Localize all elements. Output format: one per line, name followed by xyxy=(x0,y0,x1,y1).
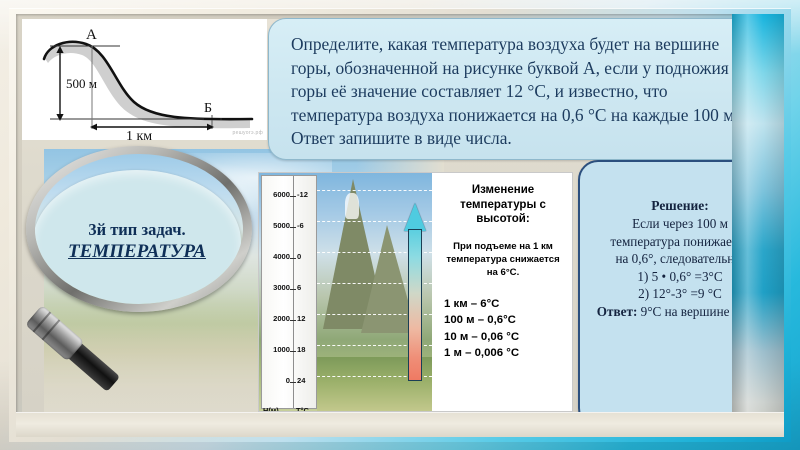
scale-height-value: 3000 xyxy=(263,283,290,292)
scale-tick-mark xyxy=(290,258,296,259)
arrow-shaft xyxy=(408,229,422,381)
temperature-gradient-arrow xyxy=(404,203,426,381)
scale-tick-mark xyxy=(290,320,296,321)
magnifier-handle xyxy=(11,293,119,391)
solution-answer-label: Ответ: xyxy=(597,304,638,319)
scale-row: 100018 xyxy=(262,345,318,357)
info-title: Изменение температуры с высотой: xyxy=(440,183,566,227)
scale-height-value: 6000 xyxy=(263,190,290,199)
diagram-base-label: Б xyxy=(204,101,212,116)
mountain-photo xyxy=(317,173,432,411)
scale-height-value: 2000 xyxy=(263,314,290,323)
scale-row: 30006 xyxy=(262,283,318,295)
scale-temp-value: 18 xyxy=(297,345,317,354)
frame-bottom-ledge xyxy=(16,412,784,437)
scale-temp-value: -12 xyxy=(297,190,317,199)
frame-right-band xyxy=(732,14,784,436)
scale-tick-mark xyxy=(290,196,296,197)
question-callout: Определите, какая температура воздуха бу… xyxy=(268,18,782,160)
conversion-item-1: 100 м – 0,6°С xyxy=(440,312,566,329)
altitude-temperature-figure: Н(м) Т°С 6000-125000-6400003000620001210… xyxy=(259,173,432,411)
scale-row: 5000-6 xyxy=(262,221,318,233)
scale-height-value: 5000 xyxy=(263,221,290,230)
magnifier-ring: 3й тип задач. ТЕМПЕРАТУРА xyxy=(26,146,252,312)
diagram-peak-label: А xyxy=(86,27,97,43)
scale-tick-mark xyxy=(290,351,296,352)
slide-root: А Б 500 м 1 км решуогэ.рф Определите, ка… xyxy=(0,0,800,450)
arrow-head-icon xyxy=(404,203,426,231)
scale-temp-value: 24 xyxy=(297,376,317,385)
altitude-temperature-scale: Н(м) Т°С 6000-125000-6400003000620001210… xyxy=(261,175,317,409)
conversion-item-3: 1 м – 0,006 °С xyxy=(440,345,566,362)
scale-temp-value: 6 xyxy=(297,283,317,292)
scale-tick-mark xyxy=(290,227,296,228)
altitude-dashline-6000 xyxy=(317,190,432,191)
scale-row: 024 xyxy=(262,376,318,388)
conversion-list: 1 км – 6°С100 м – 0,6°С10 м – 0,06 °С1 м… xyxy=(440,296,566,362)
diagram-height-label: 500 м xyxy=(66,76,97,91)
magnifier-lens: 3й тип задач. ТЕМПЕРАТУРА xyxy=(35,154,243,304)
scale-tick-mark xyxy=(290,382,296,383)
scale-tick-mark xyxy=(290,289,296,290)
info-text-column: Изменение температуры с высотой: При под… xyxy=(432,173,572,411)
title-oval-callout: 3й тип задач. ТЕМПЕРАТУРА xyxy=(35,170,241,304)
temperature-info-panel: Н(м) Т°С 6000-125000-6400003000620001210… xyxy=(258,172,573,412)
conversion-item-2: 10 м – 0,06 °С xyxy=(440,329,566,346)
scale-height-value: 4000 xyxy=(263,252,290,261)
scale-temp-value: 0 xyxy=(297,252,317,261)
scale-row: 6000-12 xyxy=(262,190,318,202)
scale-row: 40000 xyxy=(262,252,318,264)
question-text: Определите, какая температура воздуха бу… xyxy=(291,33,759,151)
mountain-profile-svg: А Б 500 м 1 км xyxy=(22,19,267,140)
scale-temp-value: -6 xyxy=(297,221,317,230)
conversion-item-0: 1 км – 6°С xyxy=(440,296,566,313)
title-oval-line1: 3й тип задач. xyxy=(88,220,185,241)
title-oval-line2: ТЕМПЕРАТУРА xyxy=(68,240,206,264)
info-subtitle: При подъеме на 1 км температура снижаетс… xyxy=(440,240,566,279)
mountain-snow-patch xyxy=(345,193,359,219)
scale-height-value: 0 xyxy=(263,376,290,385)
scale-row: 200012 xyxy=(262,314,318,326)
scale-height-unit: Н(м) xyxy=(263,406,279,411)
scale-temp-value: 12 xyxy=(297,314,317,323)
diagram-distance-label: 1 км xyxy=(126,129,152,140)
scale-height-value: 1000 xyxy=(263,345,290,354)
magnifier: 3й тип задач. ТЕМПЕРАТУРА xyxy=(24,140,254,410)
watermark: решуогэ.рф xyxy=(233,130,263,136)
scale-temp-unit: Т°С xyxy=(296,406,309,411)
mountain-profile-diagram: А Б 500 м 1 км решуогэ.рф xyxy=(22,19,267,140)
